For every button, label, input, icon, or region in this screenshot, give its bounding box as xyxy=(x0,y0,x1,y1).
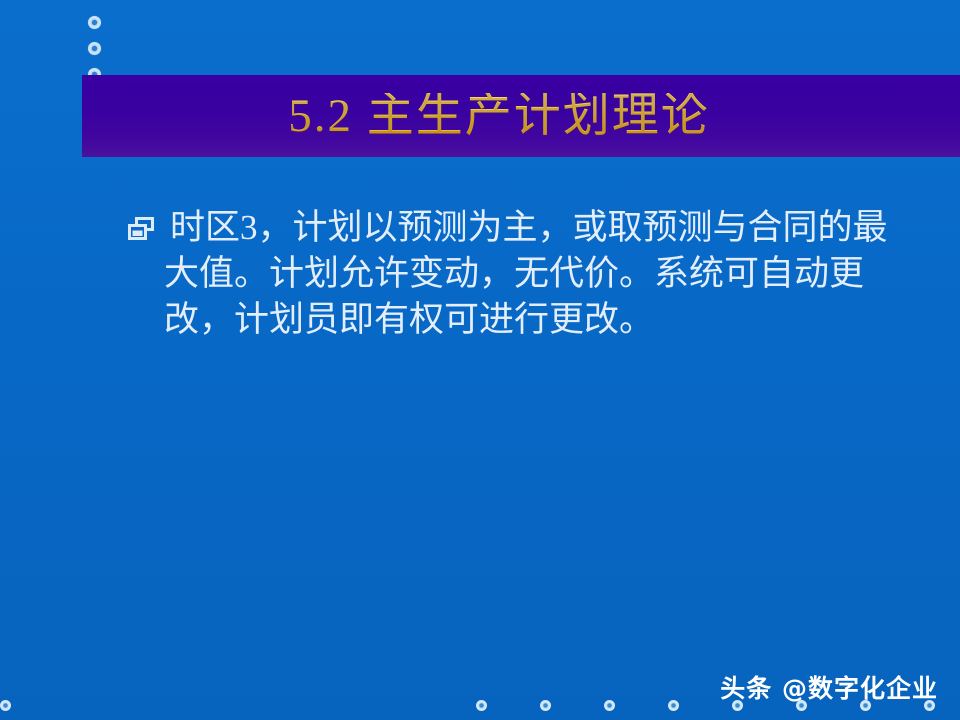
watermark-handle: @数字化企业 xyxy=(782,674,938,703)
bottom-dot-3 xyxy=(604,700,615,711)
corner-dot-1 xyxy=(88,16,101,29)
bottom-dot-2 xyxy=(540,700,551,711)
watermark: 头条 @数字化企业 xyxy=(720,669,938,705)
body-content-block: 时区3，计划以预测为主，或取预测与合同的最大值。计划允许变动，无代价。系统可自动… xyxy=(128,205,918,343)
corner-decoration-dots xyxy=(88,8,112,84)
corner-dot-2 xyxy=(88,42,101,55)
body-paragraph: 时区3，计划以预测为主，或取预测与合同的最大值。计划允许变动，无代价。系统可自动… xyxy=(164,205,918,343)
bottom-dot-1 xyxy=(476,700,487,711)
slide-canvas: 5.2 主生产计划理论 时区3，计划以预测为主，或取预测与合同的最大值。计划允许… xyxy=(0,0,960,720)
title-banner: 5.2 主生产计划理论 xyxy=(82,75,960,157)
bottom-dot-4 xyxy=(668,700,679,711)
slide-title: 5.2 主生产计划理论 xyxy=(288,93,710,140)
overlapping-rectangles-icon xyxy=(128,217,154,241)
watermark-source: 头条 xyxy=(720,674,772,703)
